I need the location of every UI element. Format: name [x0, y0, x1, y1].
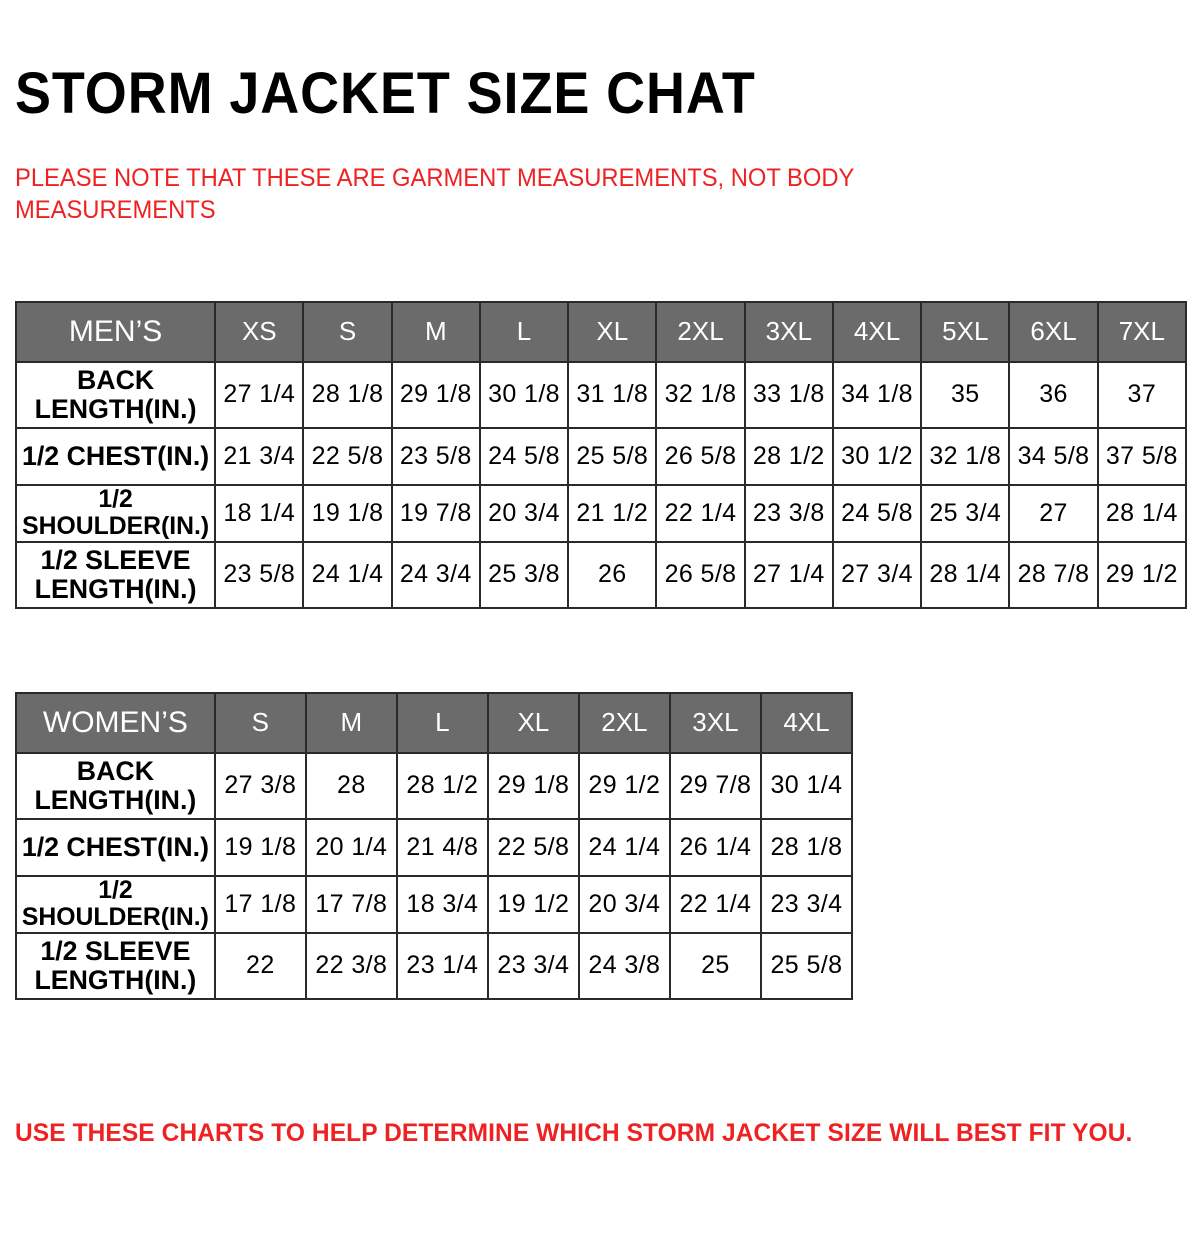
measurement-value: 28 — [306, 753, 397, 819]
measurement-value: 20 1/4 — [306, 819, 397, 876]
table-row: BACK LENGTH(IN.)27 3/82828 1/229 1/829 1… — [16, 753, 852, 819]
size-chart-page: STORM JACKET SIZE CHAT PLEASE NOTE THAT … — [0, 39, 1200, 1239]
size-column-header: L — [397, 693, 488, 753]
womens-header-row: WOMEN’SSMLXL2XL3XL4XL — [16, 693, 852, 753]
measurement-value: 30 1/4 — [761, 753, 852, 819]
measurement-value: 23 5/8 — [215, 542, 303, 608]
table-row: 1/2 SHOULDER(IN.)17 1/817 7/818 3/419 1/… — [16, 876, 852, 933]
measurement-row-label: 1/2 CHEST(IN.) — [17, 819, 214, 876]
womens-table-head: WOMEN’SSMLXL2XL3XL4XL — [16, 693, 852, 753]
womens-size-table: WOMEN’SSMLXL2XL3XL4XL BACK LENGTH(IN.)27… — [15, 692, 853, 1000]
measurement-row-label: BACK LENGTH(IN.) — [17, 362, 214, 428]
measurement-value: 23 3/8 — [745, 485, 833, 542]
womens-table-body: BACK LENGTH(IN.)27 3/82828 1/229 1/829 1… — [16, 753, 852, 999]
size-column-header: 3XL — [745, 302, 833, 362]
measurement-value: 22 — [215, 933, 306, 999]
measurement-value: 24 5/8 — [480, 428, 568, 485]
size-column-header: M — [306, 693, 397, 753]
measurement-value: 28 1/4 — [921, 542, 1009, 608]
measurement-value: 28 1/4 — [1098, 485, 1186, 542]
measurement-value: 36 — [1009, 362, 1097, 428]
measurement-value: 25 5/8 — [761, 933, 852, 999]
measurement-row-label: 1/2 SLEEVE LENGTH(IN.) — [17, 542, 214, 608]
size-column-header: L — [480, 302, 568, 362]
size-column-header: S — [215, 693, 306, 753]
measurement-value: 30 1/2 — [833, 428, 921, 485]
measurement-value: 23 1/4 — [397, 933, 488, 999]
measurement-value: 17 1/8 — [215, 876, 306, 933]
measurement-row-label: 1/2 SLEEVE LENGTH(IN.) — [17, 933, 214, 999]
measurement-value: 29 7/8 — [670, 753, 761, 819]
measurement-row-label: 1/2 SHOULDER(IN.) — [17, 485, 214, 542]
measurement-value: 29 1/2 — [1098, 542, 1186, 608]
measurement-value: 24 5/8 — [833, 485, 921, 542]
table-row: 1/2 CHEST(IN.)21 3/422 5/823 5/824 5/825… — [16, 428, 1186, 485]
measurement-value: 22 3/8 — [306, 933, 397, 999]
measurement-value: 27 1/4 — [215, 362, 303, 428]
size-column-header: S — [303, 302, 391, 362]
measurement-value: 20 3/4 — [480, 485, 568, 542]
table-row: 1/2 SHOULDER(IN.)18 1/419 1/819 7/820 3/… — [16, 485, 1186, 542]
measurement-value: 27 1/4 — [745, 542, 833, 608]
measurement-value: 23 3/4 — [488, 933, 579, 999]
measurement-value: 24 3/8 — [579, 933, 670, 999]
measurement-value: 22 5/8 — [303, 428, 391, 485]
measurement-value: 18 1/4 — [215, 485, 303, 542]
table-row: 1/2 SLEEVE LENGTH(IN.)2222 3/823 1/423 3… — [16, 933, 852, 999]
size-column-header: 2XL — [579, 693, 670, 753]
measurement-value: 24 1/4 — [579, 819, 670, 876]
measurement-value: 27 — [1009, 485, 1097, 542]
measurement-value: 27 3/8 — [215, 753, 306, 819]
size-column-header: 3XL — [670, 693, 761, 753]
measurement-value: 34 5/8 — [1009, 428, 1097, 485]
garment-measurement-note: PLEASE NOTE THAT THESE ARE GARMENT MEASU… — [15, 162, 927, 227]
table-row: 1/2 SLEEVE LENGTH(IN.)23 5/824 1/424 3/4… — [16, 542, 1186, 608]
size-column-header: 4XL — [833, 302, 921, 362]
size-column-header: 5XL — [921, 302, 1009, 362]
measurement-value: 29 1/2 — [579, 753, 670, 819]
measurement-value: 22 5/8 — [488, 819, 579, 876]
measurement-value: 24 3/4 — [392, 542, 480, 608]
measurement-value: 20 3/4 — [579, 876, 670, 933]
measurement-value: 33 1/8 — [745, 362, 833, 428]
measurement-value: 29 1/8 — [392, 362, 480, 428]
size-column-header: 4XL — [761, 693, 852, 753]
measurement-value: 35 — [921, 362, 1009, 428]
measurement-value: 28 1/8 — [303, 362, 391, 428]
measurement-value: 21 3/4 — [215, 428, 303, 485]
measurement-row-label: BACK LENGTH(IN.) — [17, 753, 214, 819]
measurement-value: 23 5/8 — [392, 428, 480, 485]
measurement-value: 26 5/8 — [656, 428, 744, 485]
measurement-value: 32 1/8 — [921, 428, 1009, 485]
size-column-header: M — [392, 302, 480, 362]
measurement-value: 18 3/4 — [397, 876, 488, 933]
size-column-header: XL — [488, 693, 579, 753]
measurement-value: 17 7/8 — [306, 876, 397, 933]
mens-size-table: MEN’SXSSMLXL2XL3XL4XL5XL6XL7XL BACK LENG… — [15, 301, 1187, 609]
page-title: STORM JACKET SIZE CHAT — [15, 39, 1103, 123]
measurement-value: 29 1/8 — [488, 753, 579, 819]
measurement-value: 32 1/8 — [656, 362, 744, 428]
measurement-value: 34 1/8 — [833, 362, 921, 428]
measurement-value: 28 7/8 — [1009, 542, 1097, 608]
measurement-value: 26 1/4 — [670, 819, 761, 876]
table-row: BACK LENGTH(IN.)27 1/428 1/829 1/830 1/8… — [16, 362, 1186, 428]
measurement-value: 25 3/8 — [480, 542, 568, 608]
size-column-header: 7XL — [1098, 302, 1186, 362]
table-row: 1/2 CHEST(IN.)19 1/820 1/421 4/822 5/824… — [16, 819, 852, 876]
measurement-value: 31 1/8 — [568, 362, 656, 428]
measurement-row-label: 1/2 SHOULDER(IN.) — [17, 876, 214, 933]
measurement-value: 37 5/8 — [1098, 428, 1186, 485]
measurement-value: 28 1/8 — [761, 819, 852, 876]
measurement-value: 21 4/8 — [397, 819, 488, 876]
measurement-value: 26 5/8 — [656, 542, 744, 608]
measurement-value: 25 3/4 — [921, 485, 1009, 542]
measurement-value: 22 1/4 — [656, 485, 744, 542]
help-determine-note: USE THESE CHARTS TO HELP DETERMINE WHICH… — [15, 1119, 1132, 1148]
measurement-value: 26 — [568, 542, 656, 608]
measurement-value: 28 1/2 — [745, 428, 833, 485]
measurement-value: 19 1/8 — [215, 819, 306, 876]
measurement-value: 28 1/2 — [397, 753, 488, 819]
measurement-value: 22 1/4 — [670, 876, 761, 933]
measurement-value: 27 3/4 — [833, 542, 921, 608]
size-column-header: XL — [568, 302, 656, 362]
measurement-value: 25 — [670, 933, 761, 999]
measurement-value: 37 — [1098, 362, 1186, 428]
measurement-value: 19 1/8 — [303, 485, 391, 542]
mens-table-head: MEN’SXSSMLXL2XL3XL4XL5XL6XL7XL — [16, 302, 1186, 362]
measurement-value: 19 1/2 — [488, 876, 579, 933]
mens-header-row: MEN’SXSSMLXL2XL3XL4XL5XL6XL7XL — [16, 302, 1186, 362]
measurement-row-label: 1/2 CHEST(IN.) — [17, 428, 214, 485]
measurement-value: 19 7/8 — [392, 485, 480, 542]
mens-table-body: BACK LENGTH(IN.)27 1/428 1/829 1/830 1/8… — [16, 362, 1186, 608]
measurement-value: 25 5/8 — [568, 428, 656, 485]
table-corner-header: WOMEN’S — [16, 693, 215, 753]
measurement-value: 23 3/4 — [761, 876, 852, 933]
table-corner-header: MEN’S — [16, 302, 215, 362]
size-column-header: 2XL — [656, 302, 744, 362]
measurement-value: 24 1/4 — [303, 542, 391, 608]
size-column-header: 6XL — [1009, 302, 1097, 362]
measurement-value: 21 1/2 — [568, 485, 656, 542]
measurement-value: 30 1/8 — [480, 362, 568, 428]
size-column-header: XS — [215, 302, 303, 362]
